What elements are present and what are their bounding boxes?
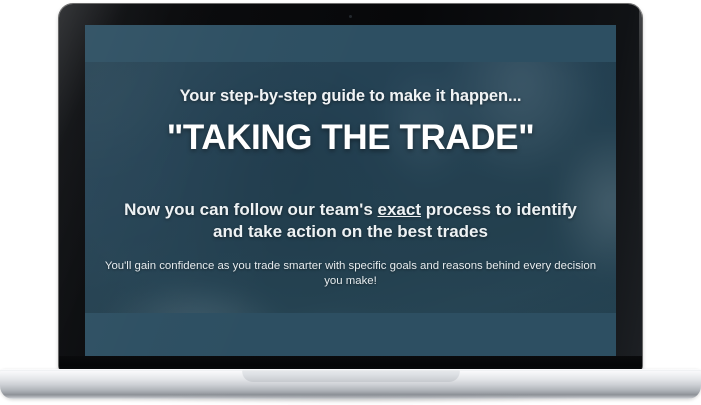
slide-eyebrow-text: Your step-by-step guide to make it happe… (180, 87, 522, 106)
bezel-rim-light (639, 6, 642, 362)
device-drop-shadow (18, 396, 683, 404)
laptop-base (0, 369, 701, 399)
camera-dot-icon (349, 15, 352, 18)
slide-subheadline: Now you can follow our team's exact proc… (116, 199, 586, 243)
laptop-screen: Your step-by-step guide to make it happe… (85, 25, 616, 356)
laptop-mockup: Your step-by-step guide to make it happe… (0, 0, 701, 405)
base-front-lip-notch (242, 369, 460, 382)
subheadline-emphasis-word: exact (378, 200, 421, 219)
subheadline-part-before: Now you can follow our team's (124, 200, 377, 219)
slide-fineprint: You'll gain confidence as you trade smar… (103, 259, 598, 290)
slide-content: Your step-by-step guide to make it happe… (85, 25, 616, 356)
screenshot-canvas: Your step-by-step guide to make it happe… (0, 0, 701, 405)
slide-headline: "TAKING THE TRADE" (167, 120, 535, 155)
